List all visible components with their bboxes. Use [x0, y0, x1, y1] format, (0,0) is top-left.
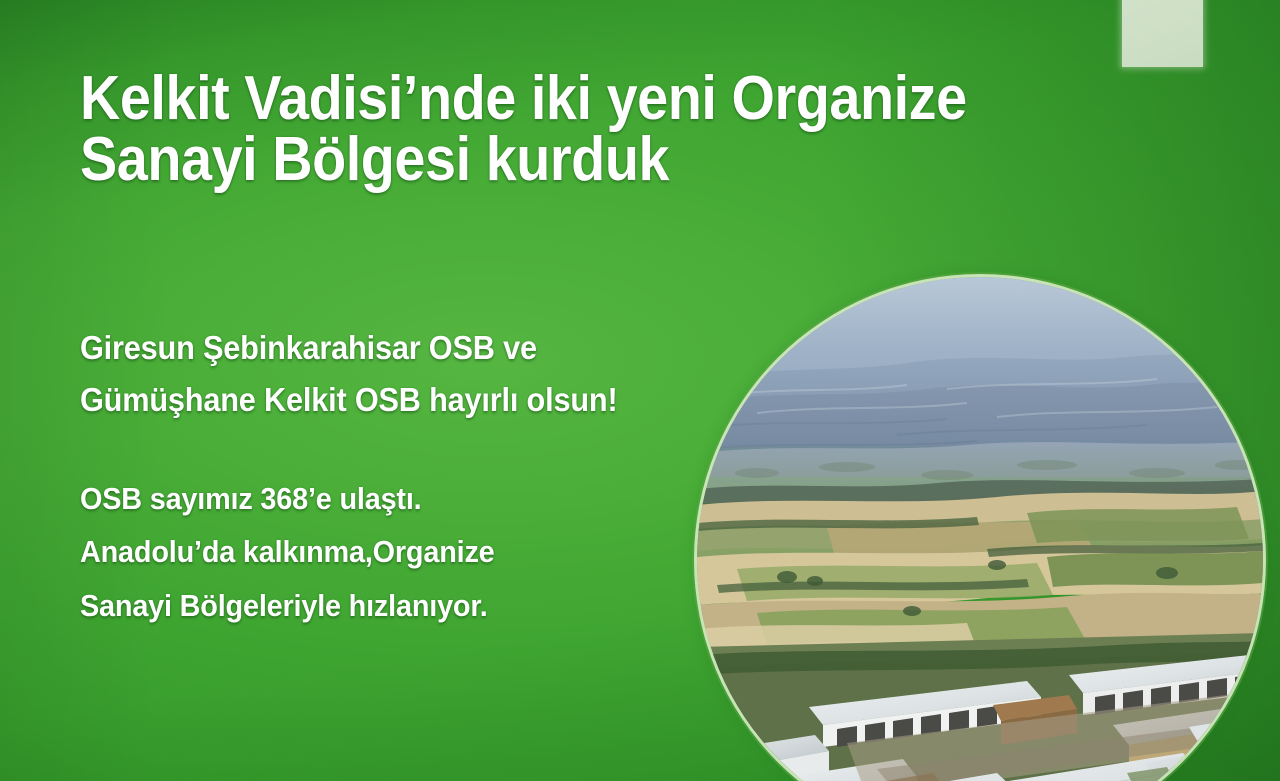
poster-canvas: Kelkit Vadisi’nde iki yeni Organize Sana… — [0, 0, 1280, 781]
corner-accent-square — [1122, 0, 1203, 67]
circular-photo — [697, 277, 1263, 781]
aerial-photo-image — [697, 277, 1263, 781]
